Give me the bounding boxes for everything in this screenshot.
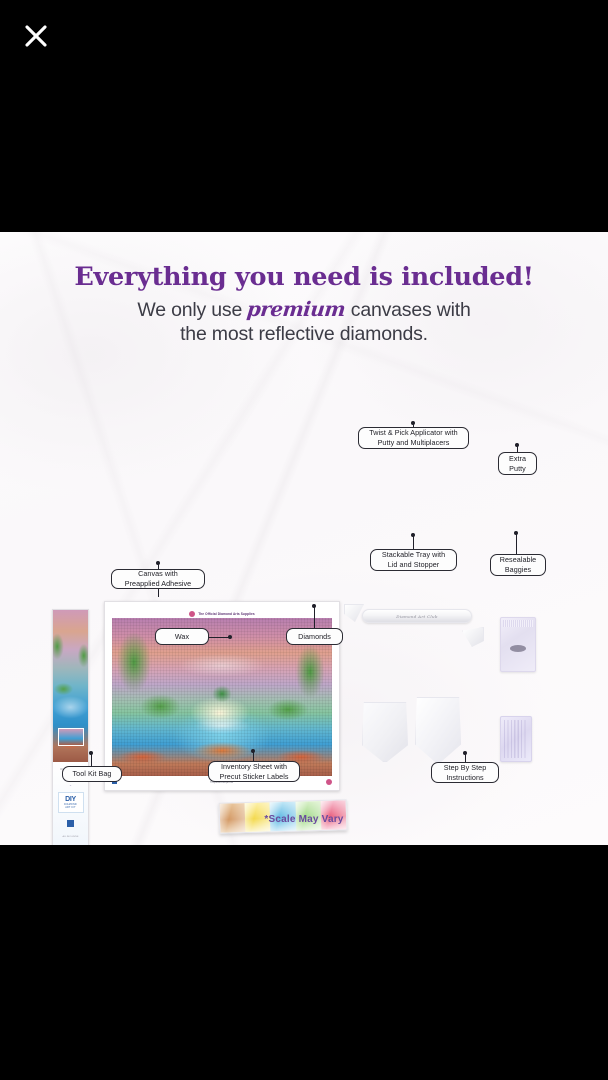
callout-step-by-step[interactable]: Step By Step Instructions (431, 762, 499, 783)
brand-logo-icon (326, 779, 332, 785)
resealable-baggies-product (500, 716, 532, 762)
close-icon (23, 23, 49, 49)
stackable-tray-lid-product (415, 697, 461, 763)
canvas-roll-footer-note: ALL INCLUSIVE (57, 836, 84, 838)
multiplacer-tip-icon (462, 627, 484, 647)
leader-dot (411, 421, 415, 425)
applicator-pen-product: Diamond Art Club (362, 609, 472, 623)
callout-diamonds[interactable]: Diamonds (286, 628, 343, 645)
leader-line (207, 637, 230, 638)
canvas-roll-thumbnail (58, 728, 84, 746)
canvas-board-header-title: The Official Diamond Arts Supplies (198, 612, 255, 616)
multiplacer-tip-icon (344, 604, 364, 622)
subheadline-suffix: canvases with (351, 299, 471, 321)
canvas-board-header: The Official Diamond Arts Supplies (112, 610, 332, 618)
brand-logo-icon (189, 611, 195, 617)
premium-word: premium (246, 297, 347, 321)
leader-dot (463, 751, 467, 755)
leader-dot (514, 531, 518, 535)
leader-dot (89, 751, 93, 755)
callout-applicator[interactable]: Twist & Pick Applicator with Putty and M… (358, 427, 469, 449)
bag-seal-strip (503, 620, 533, 627)
applicator-pen-barrel-text: Diamond Art Club (396, 614, 437, 619)
diy-badge-title: DIY (59, 796, 83, 803)
subheadline-line-1: We only use premium canvases with (0, 297, 608, 322)
leader-dot (156, 561, 160, 565)
close-button[interactable] (18, 18, 54, 54)
callout-extra-putty[interactable]: Extra Putty (498, 452, 537, 475)
product-inclusions-image[interactable]: Everything you need is included! We only… (0, 232, 608, 845)
diy-badge-sub-2: ART KIT (59, 806, 83, 809)
leader-dot (515, 443, 519, 447)
stackable-tray-product (362, 702, 408, 762)
extra-putty-product (500, 617, 536, 672)
leader-dot (251, 749, 255, 753)
page-title: Everything you need is included! (0, 262, 608, 292)
leader-dot (411, 533, 415, 537)
leader-dot (228, 635, 232, 639)
scale-disclaimer: *Scale May Vary (0, 814, 608, 825)
diy-badge: DIY DIAMOND ART KIT (58, 792, 84, 813)
leader-dot (312, 604, 316, 608)
canvas-roll-product: Diamond Art Club DIY DIAMOND ART KIT ALL… (52, 609, 89, 845)
callout-canvas[interactable]: Canvas with Preapplied Adhesive (111, 569, 205, 589)
callout-stackable-tray[interactable]: Stackable Tray with Lid and Stopper (370, 549, 457, 571)
subheadline-line-2: the most reflective diamonds. (0, 323, 608, 346)
subheadline-prefix: We only use (137, 299, 242, 321)
callout-inventory-sheet[interactable]: Inventory Sheet with Precut Sticker Labe… (208, 761, 300, 782)
putty-blob (510, 645, 526, 652)
screen: Everything you need is included! We only… (0, 0, 608, 1080)
callout-tool-kit-bag[interactable]: Tool Kit Bag (62, 766, 122, 782)
callout-resealable-baggies[interactable]: Resealable Baggies (490, 554, 546, 576)
callout-wax[interactable]: Wax (155, 628, 209, 645)
